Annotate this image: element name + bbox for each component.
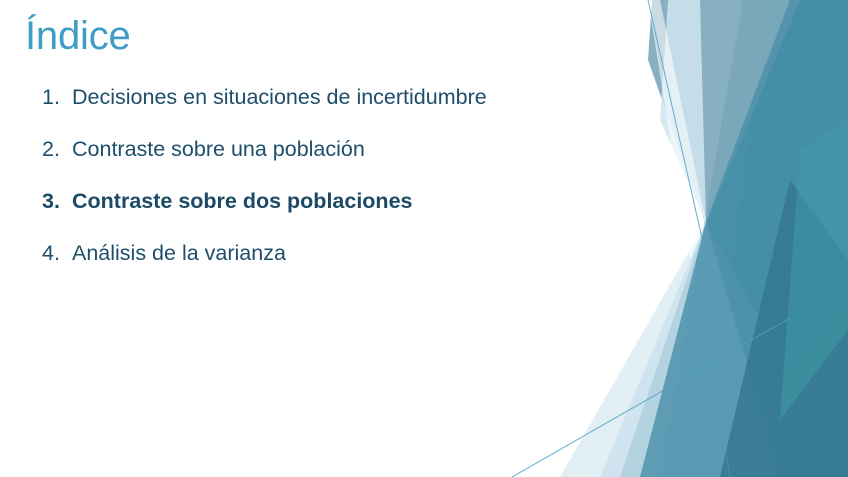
shape-steel-bottom [640, 222, 848, 477]
list-item-number: 3. [42, 188, 72, 214]
shape-steel-column [660, 0, 848, 477]
shape-pale-edge-sliver [648, 0, 706, 260]
list-item-number: 1. [42, 84, 72, 110]
page-title: Índice [25, 12, 131, 60]
list-item-label: Decisiones en situaciones de incertidumb… [72, 84, 487, 110]
shape-teal-base [700, 0, 848, 477]
list-item-number: 4. [42, 240, 72, 266]
shape-bluegray-large [648, 0, 800, 225]
list-item-label: Análisis de la varianza [72, 240, 286, 266]
shape-teal-sliver [780, 120, 848, 420]
accent-line-diagonal [512, 318, 790, 477]
list-item-number: 2. [42, 136, 72, 162]
accent-line-lower [700, 280, 730, 477]
list-item[interactable]: 2. Contraste sobre una población [42, 136, 632, 162]
shape-teal-upper-wedge [660, 0, 848, 477]
presentation-slide: Índice 1. Decisiones en situaciones de i… [0, 0, 848, 477]
agenda-list: 1. Decisiones en situaciones de incertid… [42, 84, 632, 292]
list-item-label: Contraste sobre una población [72, 136, 365, 162]
list-item[interactable]: 1. Decisiones en situaciones de incertid… [42, 84, 632, 110]
shape-pale-v-left [660, 0, 706, 222]
shape-deepblue-bottomright [720, 180, 848, 477]
accent-line-upper [648, 0, 716, 300]
list-item-current[interactable]: 3. Contraste sobre dos poblaciones [42, 188, 632, 214]
list-item[interactable]: 4. Análisis de la varianza [42, 240, 632, 266]
list-item-label: Contraste sobre dos poblaciones [72, 188, 412, 214]
